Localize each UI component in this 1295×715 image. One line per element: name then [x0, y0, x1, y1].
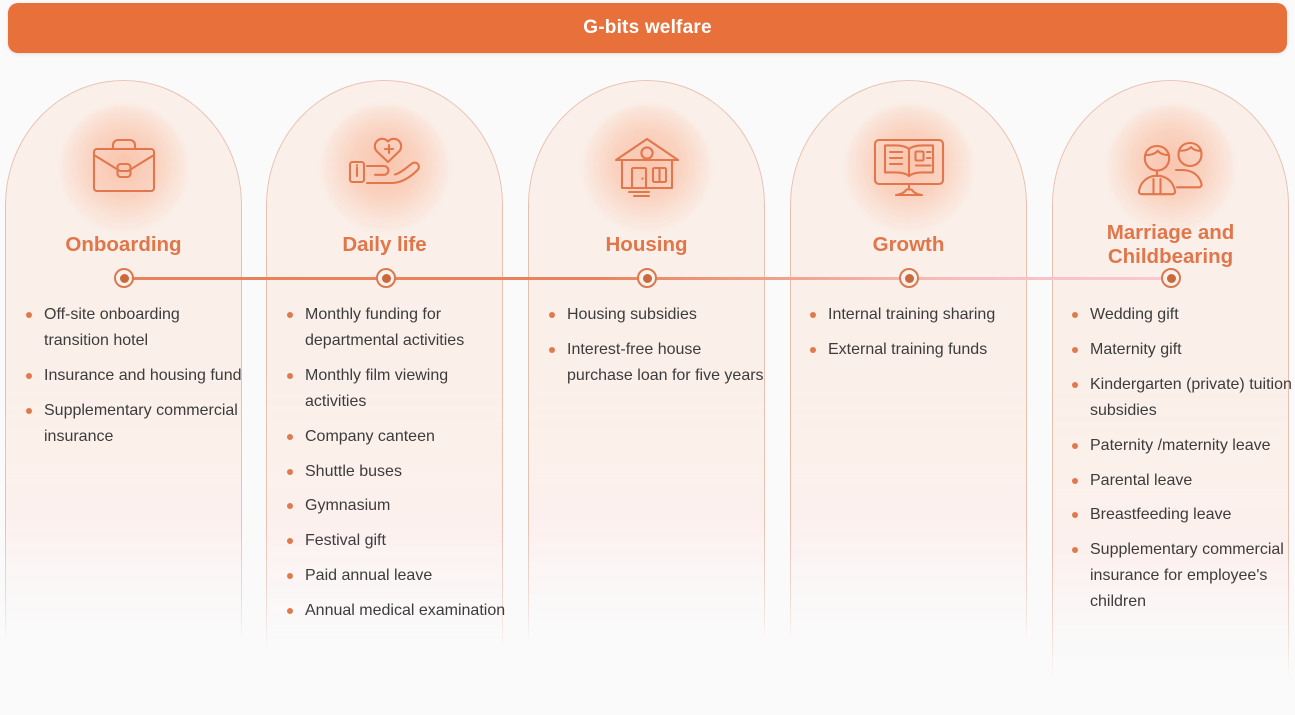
page-title: G-bits welfare [583, 17, 711, 39]
list-item: Internal training sharing [806, 302, 1031, 328]
card-title: Daily life [275, 233, 494, 257]
monitor-book-icon [869, 133, 949, 203]
list-item: Gymnasium [283, 493, 508, 519]
list-item: Supplementary commercial insurance [22, 398, 247, 450]
icon-container [846, 105, 972, 231]
list-item: Supplementary commercial insurance for e… [1068, 537, 1293, 615]
timeline-dot-growth [899, 268, 919, 288]
card-title: Marriage and Childbearing [1061, 221, 1280, 269]
list-item: Monthly funding for departmental activit… [283, 302, 508, 354]
list-item: Housing subsidies [545, 302, 770, 328]
header-banner: G-bits welfare [8, 3, 1287, 53]
list-item: Kindergarten (private) tuition subsidies [1068, 372, 1293, 424]
list-item: Off-site onboarding transition hotel [22, 302, 247, 354]
benefit-list-daily-life: Monthly funding for departmental activit… [283, 302, 508, 633]
list-item: Festival gift [283, 528, 508, 554]
welfare-board: Onboarding Daily life [0, 62, 1295, 715]
list-item: Shuttle buses [283, 459, 508, 485]
list-item: Insurance and housing fund [22, 363, 247, 389]
timeline-dot-daily-life [376, 268, 396, 288]
list-item: Wedding gift [1068, 302, 1293, 328]
card-title: Growth [799, 233, 1018, 257]
card-title: Onboarding [14, 233, 233, 257]
icon-container [1108, 105, 1234, 231]
briefcase-icon [86, 133, 162, 203]
timeline-dot-marriage-and-childbearing [1161, 268, 1181, 288]
benefit-list-housing: Housing subsidiesInterest-free house pur… [545, 302, 770, 398]
list-item: Maternity gift [1068, 337, 1293, 363]
list-item: Monthly film viewing activities [283, 363, 508, 415]
list-item: External training funds [806, 337, 1031, 363]
couple-icon [1131, 133, 1211, 203]
benefit-list-marriage-and-childbearing: Wedding giftMaternity giftKindergarten (… [1068, 302, 1293, 624]
list-item: Breastfeeding leave [1068, 502, 1293, 528]
timeline-dot-onboarding [114, 268, 134, 288]
icon-container [61, 105, 187, 231]
icon-container [584, 105, 710, 231]
list-item: Paid annual leave [283, 563, 508, 589]
benefit-list-growth: Internal training sharingExternal traini… [806, 302, 1031, 372]
house-icon [610, 133, 684, 203]
icon-container [322, 105, 448, 231]
list-item: Company canteen [283, 424, 508, 450]
benefit-list-onboarding: Off-site onboarding transition hotelInsu… [22, 302, 247, 459]
list-item: Interest-free house purchase loan for fi… [545, 337, 770, 389]
list-item: Parental leave [1068, 468, 1293, 494]
list-item: Paternity /maternity leave [1068, 433, 1293, 459]
timeline-dot-housing [637, 268, 657, 288]
hand-heart-care-icon [343, 133, 427, 203]
card-title: Housing [537, 233, 756, 257]
list-item: Annual medical examination [283, 598, 508, 624]
